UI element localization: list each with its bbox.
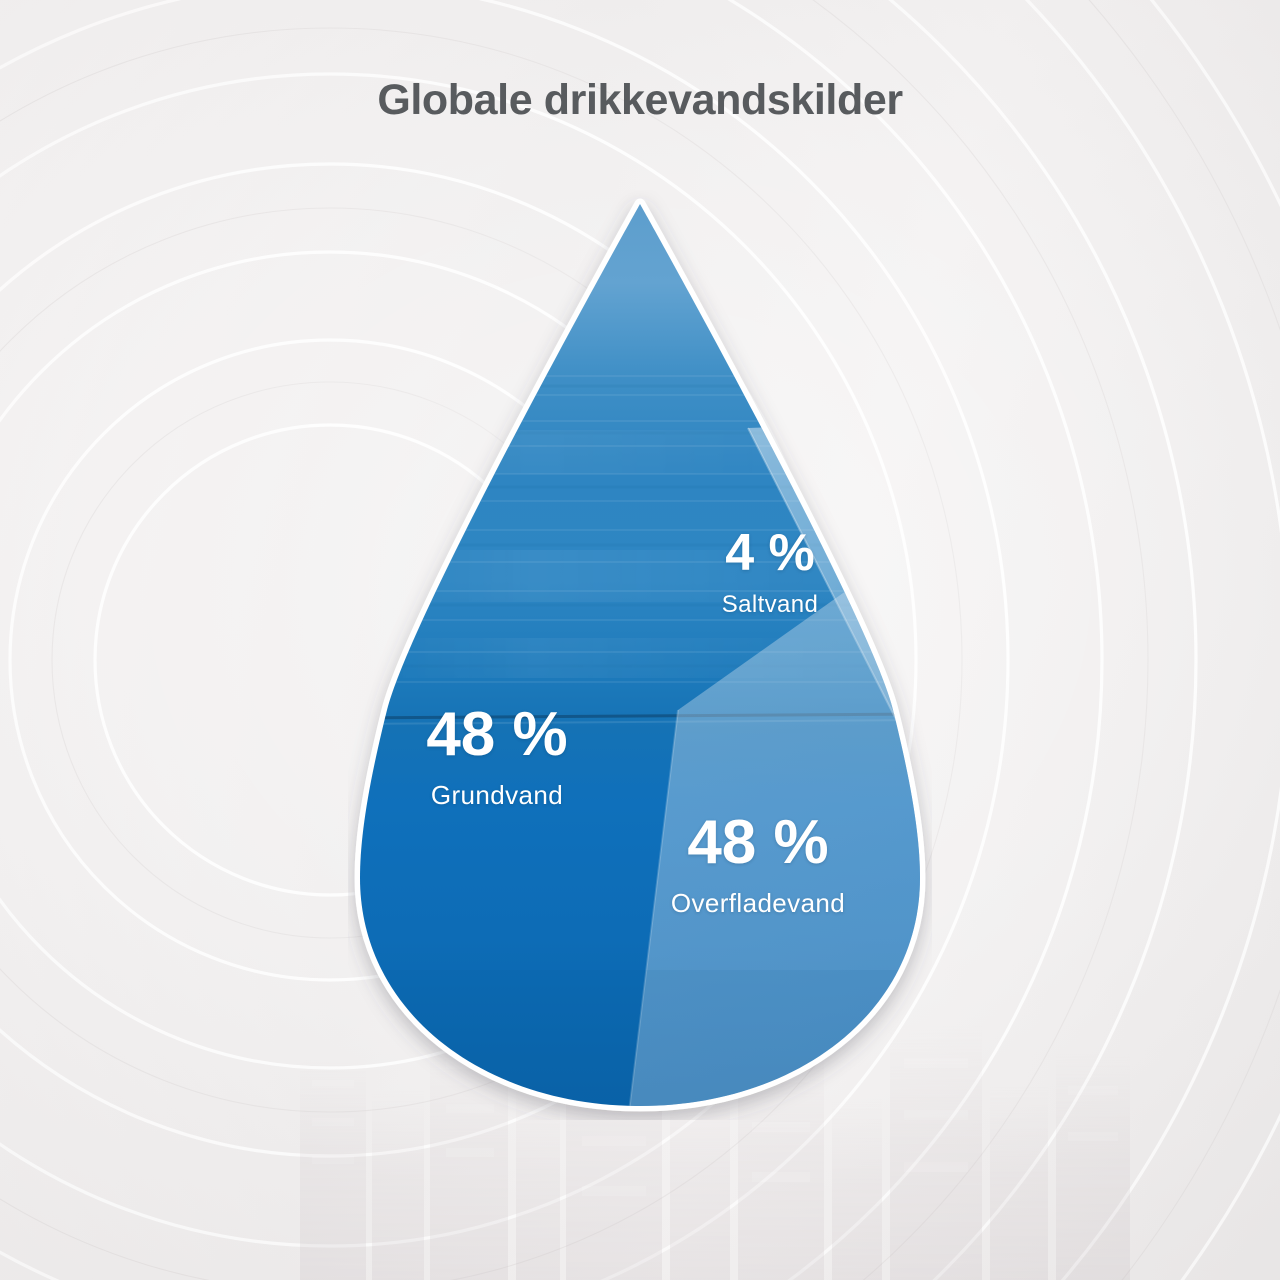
water-droplet-chart [348, 190, 932, 1120]
grundvand-percent: 48 % [368, 704, 626, 766]
droplet-svg [348, 190, 932, 1120]
infographic-canvas: Globale drikkevandskilder [0, 0, 1280, 1280]
segment-label-saltvand: 4 % Saltvand [640, 527, 900, 617]
droplet-bottom-shade [348, 970, 932, 1120]
segment-label-grundvand: 48 % Grundvand [368, 704, 626, 808]
grundvand-name: Grundvand [368, 782, 626, 808]
overfladevand-percent: 48 % [628, 812, 888, 874]
page-title: Globale drikkevandskilder [0, 76, 1280, 125]
saltvand-name: Saltvand [640, 593, 900, 617]
saltvand-percent: 4 % [640, 527, 900, 579]
overfladevand-name: Overfladevand [628, 890, 888, 916]
segment-label-overfladevand: 48 % Overfladevand [628, 812, 888, 916]
